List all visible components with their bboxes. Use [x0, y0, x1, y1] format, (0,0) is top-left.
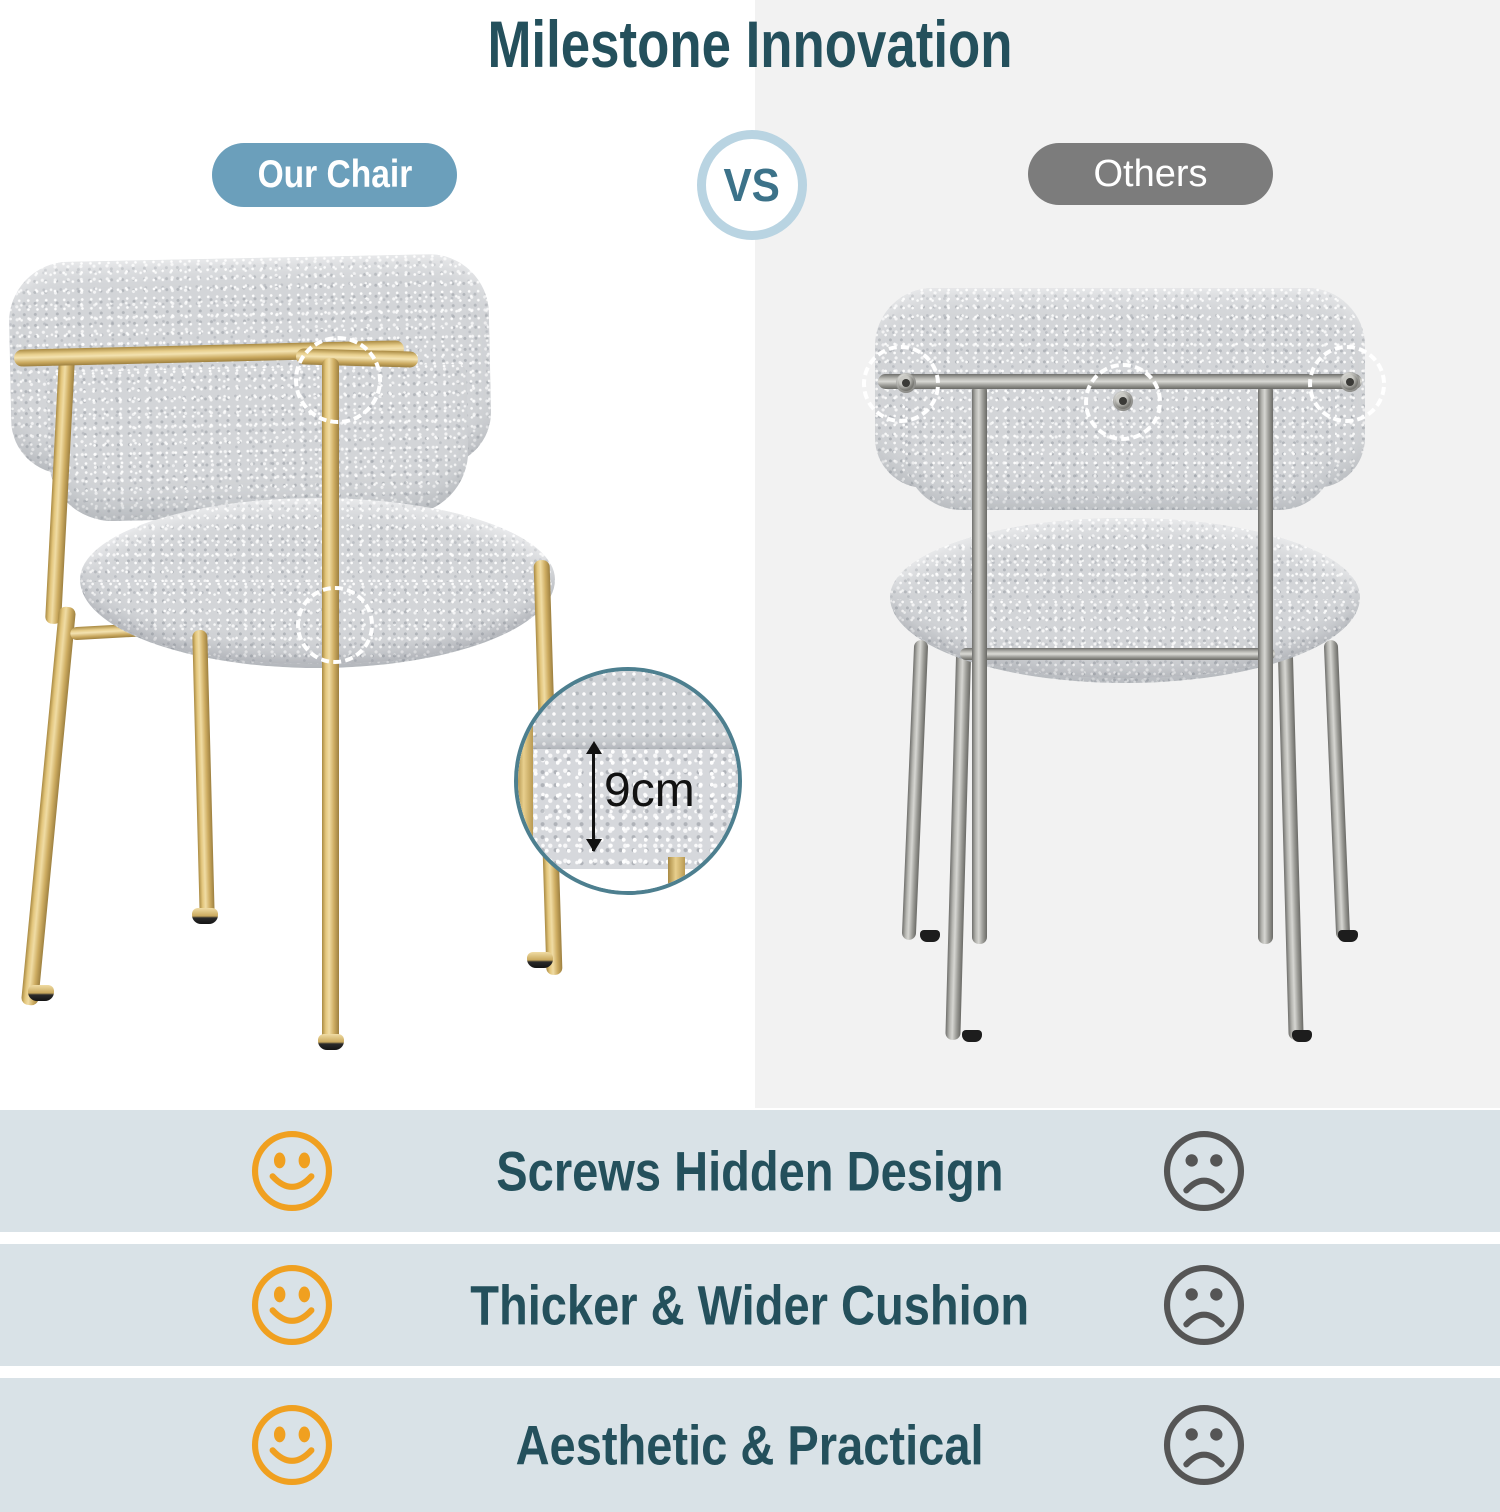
competitor-chair-foot-1 — [962, 1030, 982, 1042]
smiley-face-icon — [248, 1261, 336, 1349]
feature-row: Aesthetic & Practical — [0, 1378, 1500, 1512]
our-chair-hidden-screw-highlight-seat — [296, 586, 374, 664]
our-chair-foot-2 — [192, 908, 218, 924]
our-chair-foot-4 — [527, 952, 553, 968]
feature-row: Screws Hidden Design — [0, 1110, 1500, 1232]
feature-label-text: Thicker & Wider Cushion — [471, 1273, 1030, 1338]
feature-row: Thicker & Wider Cushion — [0, 1244, 1500, 1366]
dimension-arrow-down-icon — [586, 839, 602, 852]
dimension-label: 9cm — [604, 767, 695, 815]
callout-chair-leg-edge — [516, 671, 533, 895]
competitor-screw-highlight-center — [1084, 363, 1162, 441]
page-title: Milestone Innovation — [150, 8, 1350, 82]
our-chair-foot-1 — [28, 985, 54, 1001]
smiley-face-icon — [248, 1127, 336, 1215]
vs-badge: VS — [697, 130, 807, 240]
competitor-chair-back-post-right — [1258, 384, 1273, 944]
competitor-chair-foot-3 — [920, 930, 940, 942]
smiley-face-icon — [248, 1401, 336, 1489]
feature-label-text: Aesthetic & Practical — [516, 1413, 984, 1478]
callout-chair-leg — [668, 857, 685, 895]
our-chair-foot-3 — [318, 1034, 344, 1050]
feature-label: Screws Hidden Design — [0, 1139, 1500, 1204]
feature-label: Aesthetic & Practical — [0, 1413, 1500, 1478]
our-chair-label-text: Our Chair — [257, 153, 412, 197]
competitor-chair-foot-2 — [1292, 1030, 1312, 1042]
competitor-chair-seat-rail — [960, 648, 1275, 660]
frowning-face-icon — [1160, 1127, 1248, 1215]
others-label-text: Others — [1093, 153, 1207, 196]
feature-comparison-list: Screws Hidden Design Thicker & Wider Cus… — [0, 1110, 1500, 1512]
others-label-pill: Others — [1028, 143, 1273, 205]
our-chair-backrest-lower — [46, 364, 469, 523]
hero-comparison-panel: Milestone Innovation Our Chair VS Others — [0, 0, 1500, 1108]
frowning-face-icon — [1160, 1401, 1248, 1489]
feature-label-text: Screws Hidden Design — [496, 1139, 1003, 1204]
competitor-screw-highlight-right — [1308, 345, 1386, 423]
dimension-line — [592, 751, 595, 851]
frowning-face-icon — [1160, 1261, 1248, 1349]
competitor-chair-back-post-left — [972, 384, 987, 944]
our-chair-center-post — [322, 358, 339, 1048]
cushion-thickness-callout: 9cm — [514, 667, 742, 895]
our-chair-hidden-screw-highlight-top — [294, 336, 382, 424]
callout-fabric-upper — [514, 671, 742, 749]
competitor-chair-foot-4 — [1338, 930, 1358, 942]
feature-label: Thicker & Wider Cushion — [0, 1273, 1500, 1338]
competitor-screw-highlight-left — [862, 345, 940, 423]
vs-badge-text: VS — [724, 162, 780, 208]
our-chair-label-pill: Our Chair — [212, 143, 457, 207]
